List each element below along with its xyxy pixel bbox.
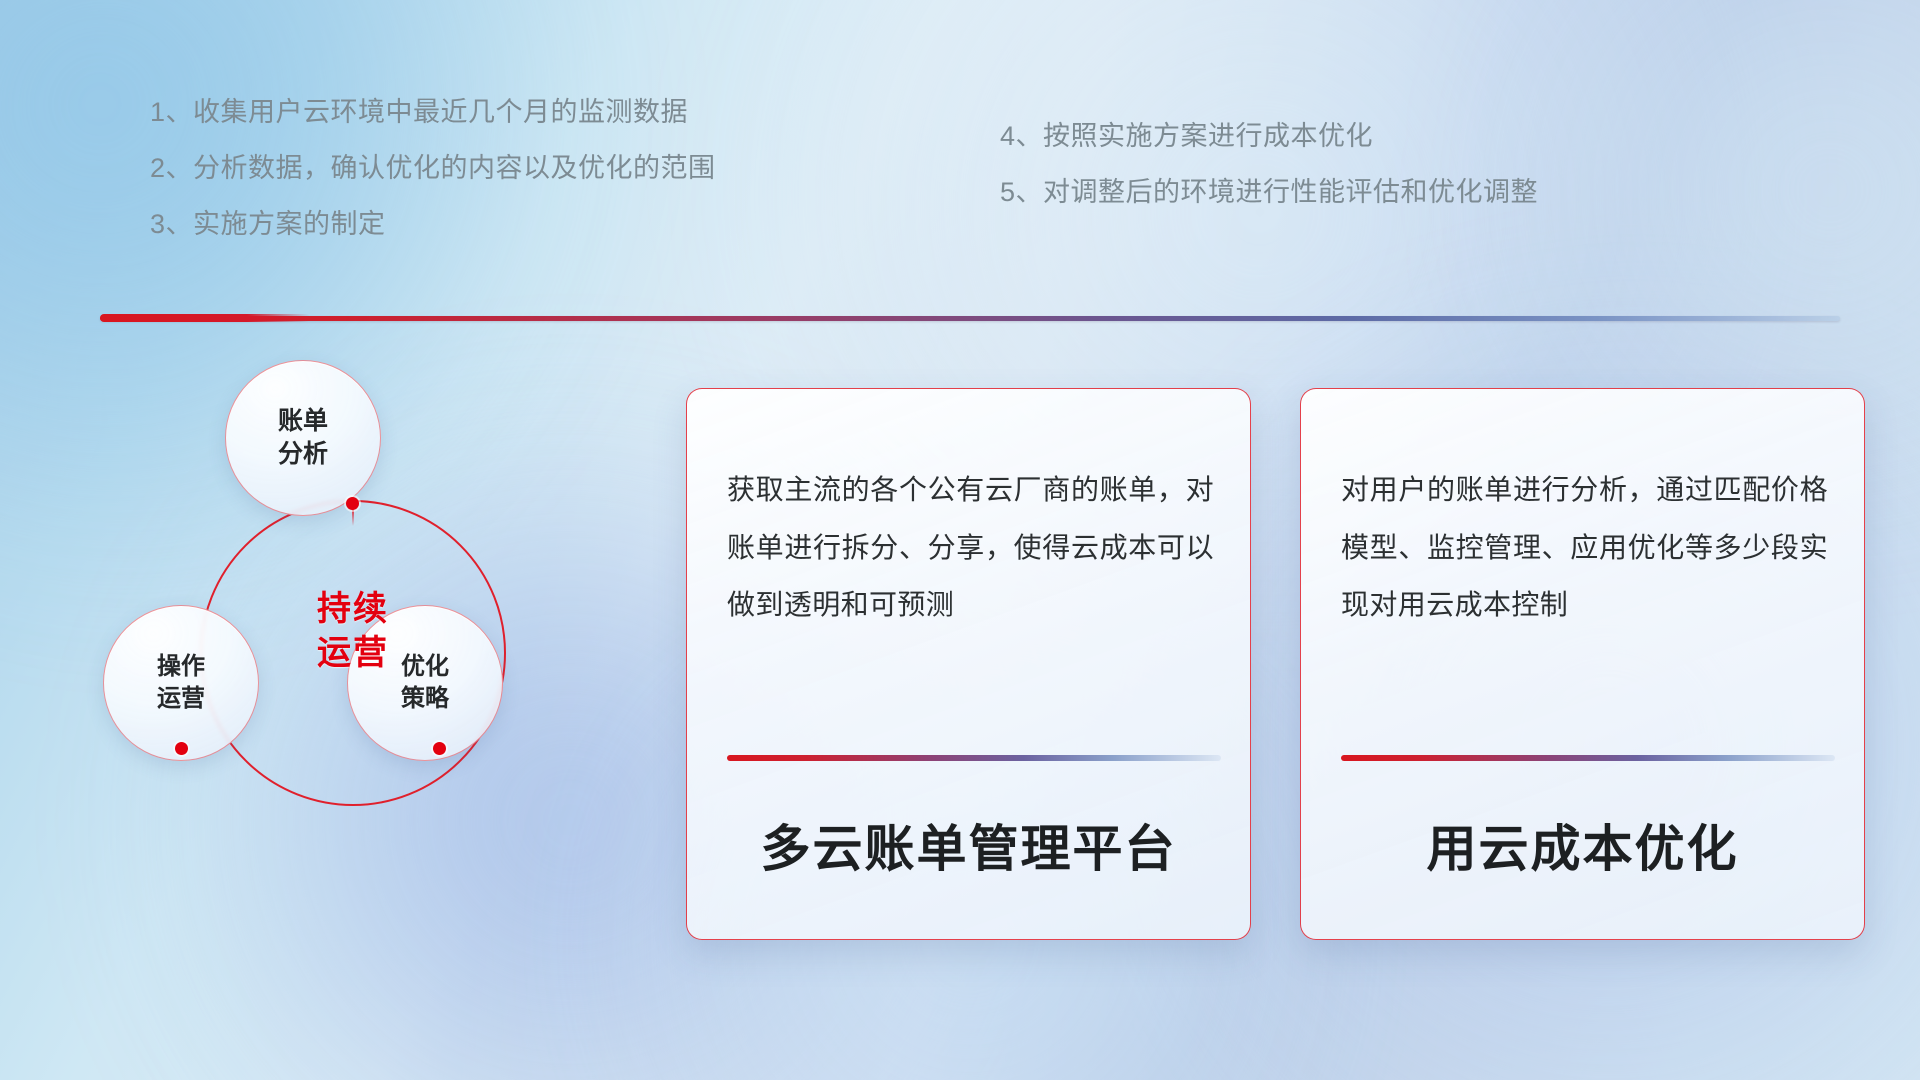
bubble-line-2: 策略 [401,685,449,712]
bubble-line-2: 运营 [157,685,205,712]
venn-diagram: 账单 分析 操作 运营 优化 策略 持续 运营 [95,360,555,920]
bubble-operations[interactable]: 操作 运营 [103,605,259,761]
slide-canvas: 1、收集用户云环境中最近几个月的监测数据 2、分析数据，确认优化的内容以及优化的… [0,0,1920,1080]
node-dot-right [433,742,446,755]
bubble-operations-label: 操作 运营 [157,651,205,714]
diagram-center-label: 持续 运营 [243,588,463,675]
card-1-title: 多云账单管理平台 [687,809,1250,881]
bubble-line-1: 操作 [157,653,205,680]
process-step-2: 2、分析数据，确认优化的内容以及优化的范围 [150,152,716,186]
process-step-5: 5、对调整后的环境进行性能评估和优化调整 [1000,176,1538,210]
card-2-body: 对用户的账单进行分析，通过匹配价格模型、监控管理、应用优化等多少段实现对用云成本… [1341,461,1828,634]
process-step-4: 4、按照实施方案进行成本优化 [1000,120,1538,154]
card-2-rule [1341,755,1835,761]
bubble-line-2: 分析 [278,440,328,468]
process-step-1: 1、收集用户云环境中最近几个月的监测数据 [150,96,716,130]
card-1-rule [727,755,1221,761]
node-dot-top [346,497,359,510]
bubble-bill-analysis-label: 账单 分析 [278,405,328,471]
center-label-line-1: 持续 [317,590,389,628]
header-divider [100,316,1840,321]
process-list-right: 4、按照实施方案进行成本优化 5、对调整后的环境进行性能评估和优化调整 [1000,120,1538,232]
card-multicloud-billing-platform[interactable]: 获取主流的各个公有云厂商的账单，对账单进行拆分、分享，使得云成本可以做到透明和可… [686,388,1251,940]
card-1-body: 获取主流的各个公有云厂商的账单，对账单进行拆分、分享，使得云成本可以做到透明和可… [727,461,1214,634]
connector-stem-top [352,508,354,526]
bubble-bill-analysis[interactable]: 账单 分析 [225,360,381,516]
center-label-line-2: 运营 [317,634,389,672]
process-list-left: 1、收集用户云环境中最近几个月的监测数据 2、分析数据，确认优化的内容以及优化的… [150,96,716,263]
card-2-title: 用云成本优化 [1301,809,1864,881]
card-cloud-cost-optimization[interactable]: 对用户的账单进行分析，通过匹配价格模型、监控管理、应用优化等多少段实现对用云成本… [1300,388,1865,940]
process-step-3: 3、实施方案的制定 [150,208,716,242]
bubble-line-1: 账单 [278,407,328,435]
node-dot-left [175,742,188,755]
